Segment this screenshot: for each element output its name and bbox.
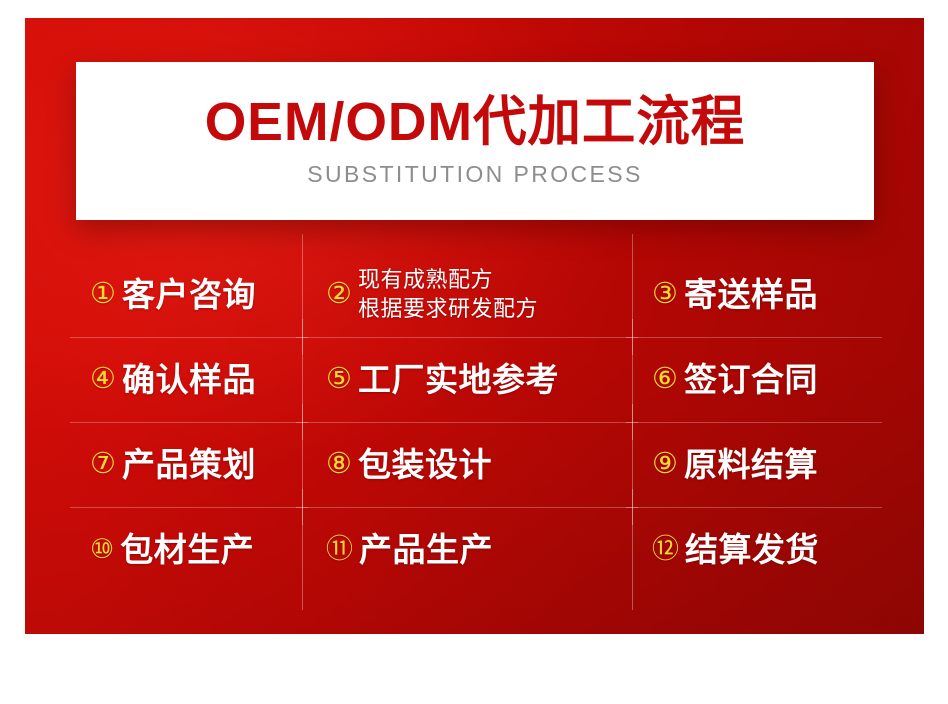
step-item-4: ④ 确认样品 [76,337,302,422]
step-number-6: ⑥ [652,365,678,394]
step-label-2-line-2: 根据要求研发配方 [358,295,538,323]
step-label-2: 现有成熟配方 根据要求研发配方 [358,266,538,322]
step-number-3: ③ [652,280,678,309]
step-label-5: 工厂实地参考 [358,362,559,398]
step-number-1: ① [90,280,116,309]
step-number-5: ⑤ [326,365,352,394]
step-item-5: ⑤ 工厂实地参考 [302,337,632,422]
step-item-3: ③ 寄送样品 [632,252,876,337]
page-title: OEM/ODM代加工流程 [205,94,746,151]
step-label-7: 产品策划 [122,447,256,483]
step-label-2-line-1: 现有成熟配方 [358,266,538,294]
step-item-6: ⑥ 签订合同 [632,337,876,422]
title-card: OEM/ODM代加工流程 SUBSTITUTION PROCESS [76,62,874,220]
step-label-6: 签订合同 [684,362,818,398]
page-subtitle: SUBSTITUTION PROCESS [307,161,643,188]
step-number-9: ⑨ [652,450,678,479]
step-number-10: ⑩ [90,536,114,563]
step-item-1: ① 客户咨询 [76,252,302,337]
step-number-12: ⑫ [652,536,679,563]
step-item-9: ⑨ 原料结算 [632,422,876,507]
step-number-4: ④ [90,365,116,394]
step-item-11: ⑪ 产品生产 [302,507,632,592]
oem-odm-process-poster: OEM/ODM代加工流程 SUBSTITUTION PROCESS ① 客户咨询… [0,0,948,704]
step-label-9: 原料结算 [684,447,818,483]
step-item-12: ⑫ 结算发货 [632,507,876,592]
step-label-4: 确认样品 [122,362,256,398]
step-number-7: ⑦ [90,450,116,479]
step-label-1: 客户咨询 [122,277,256,313]
step-item-7: ⑦ 产品策划 [76,422,302,507]
process-steps-grid: ① 客户咨询 ② 现有成熟配方 根据要求研发配方 ③ 寄送样品 ④ 确认样品 ⑤… [76,252,876,592]
step-label-10: 包材生产 [120,532,254,568]
step-number-11: ⑪ [326,536,353,563]
step-label-11: 产品生产 [359,532,493,568]
step-item-8: ⑧ 包装设计 [302,422,632,507]
step-number-2: ② [326,280,352,309]
step-label-3: 寄送样品 [684,277,818,313]
step-item-2: ② 现有成熟配方 根据要求研发配方 [302,252,632,337]
step-item-10: ⑩ 包材生产 [76,507,302,592]
step-label-12: 结算发货 [685,532,819,568]
step-label-8: 包装设计 [358,447,492,483]
step-number-8: ⑧ [326,450,352,479]
